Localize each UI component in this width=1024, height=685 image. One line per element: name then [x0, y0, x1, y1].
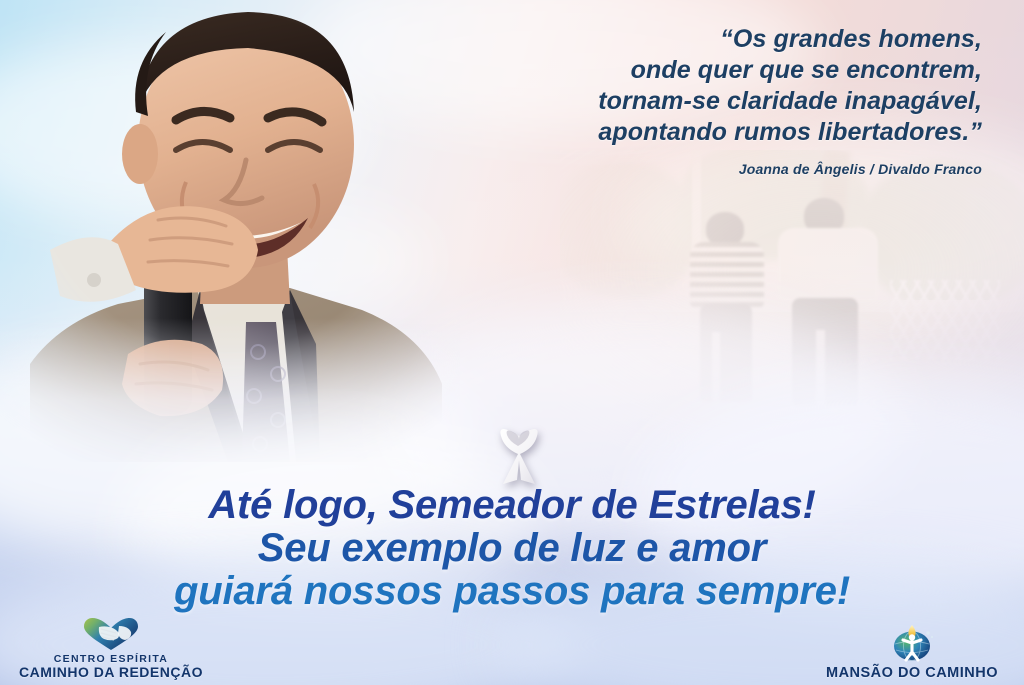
logo-mansao-do-caminho: MANSÃO DO CAMINHO: [806, 622, 1018, 681]
white-mourning-ribbon-icon: [487, 410, 551, 486]
quote-block: “Os grandes homens, onde quer que se enc…: [362, 24, 982, 177]
memorial-poster: “Os grandes homens, onde quer que se enc…: [0, 0, 1024, 685]
logo-left-line-2: CAMINHO DA REDENÇÃO: [6, 665, 216, 681]
photo-haze-overlay: [560, 150, 1024, 450]
quote-line: tornam-se claridade inapagável,: [362, 86, 982, 117]
headline-line-1: Até logo, Semeador de Estrelas!: [0, 484, 1024, 527]
logo-right-line-1: MANSÃO DO CAMINHO: [806, 665, 1018, 681]
quote-line: apontando rumos libertadores.”: [362, 117, 982, 148]
logo-centro-espirita-caminho-da-redencao: CENTRO ESPÍRITA CAMINHO DA REDENÇÃO: [6, 617, 216, 681]
portrait-fade-overlay: [0, 318, 460, 468]
quote-line: “Os grandes homens,: [362, 24, 982, 55]
globe-figure-flame-icon: [887, 622, 937, 662]
quote-attribution: Joanna de Ângelis / Divaldo Franco: [362, 161, 982, 177]
quote-line: onde quer que se encontrem,: [362, 55, 982, 86]
headline-block: Até logo, Semeador de Estrelas! Seu exem…: [0, 484, 1024, 612]
background-photo-two-people-walking: [560, 150, 1024, 450]
heart-hands-icon: [83, 617, 139, 651]
headline-line-3: guiará nossos passos para sempre!: [0, 570, 1024, 613]
headline-line-2: Seu exemplo de luz e amor: [0, 527, 1024, 570]
